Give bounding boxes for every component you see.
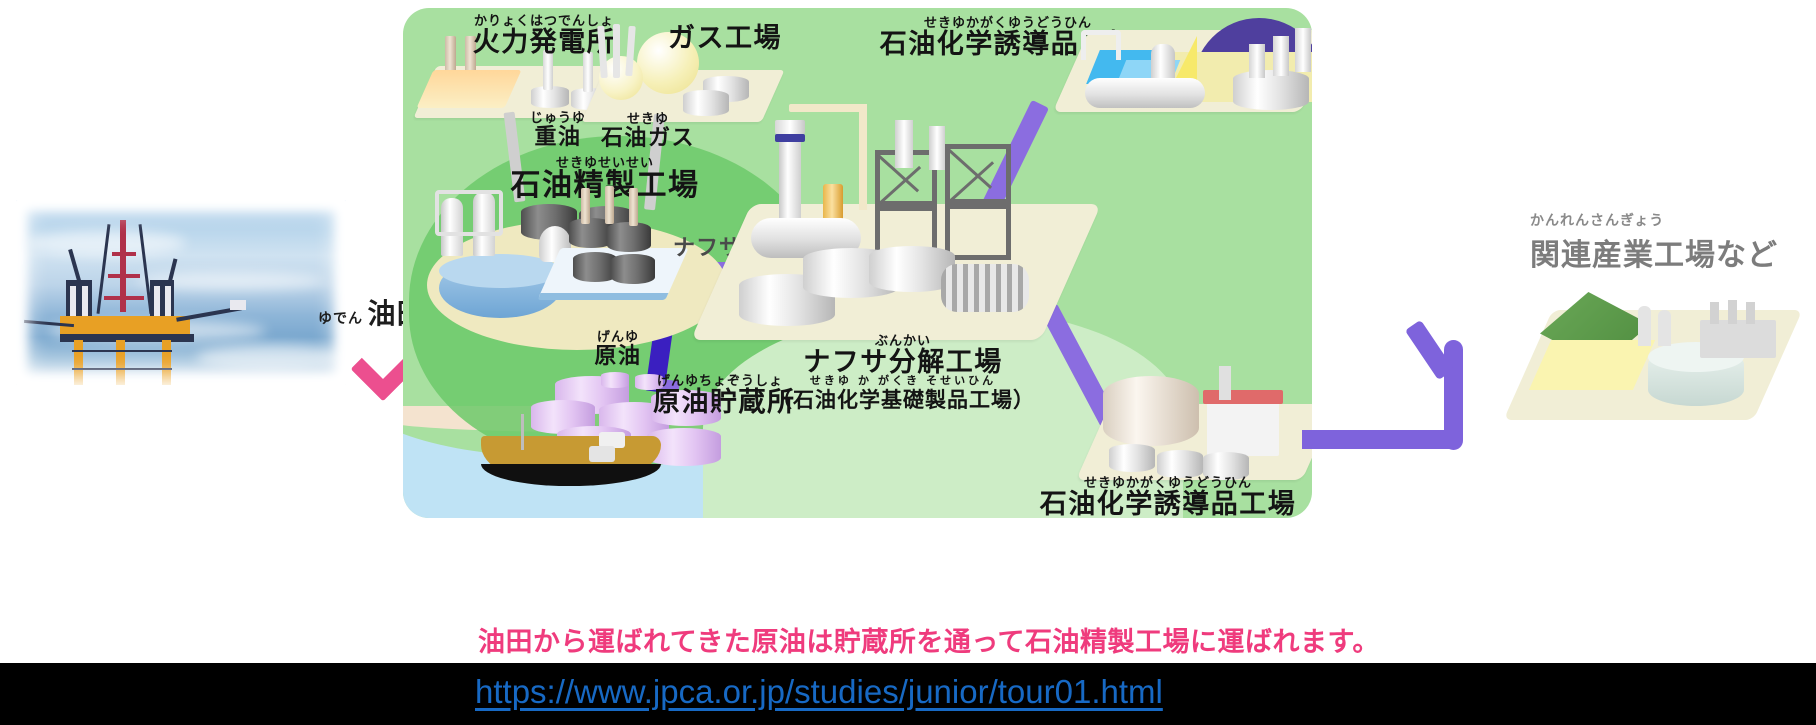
refinery-unit (607, 222, 651, 252)
naphtha-cracker-sub-text: （石油化学基礎製品工場） (743, 390, 1063, 412)
related-stack-pipes (1638, 306, 1651, 346)
related-small-factory (1700, 320, 1776, 358)
cracker-vertical-pipe (929, 126, 945, 170)
petrochem-frame (1081, 30, 1121, 60)
related-yellow-floor (1529, 340, 1655, 390)
petrochem-bottom-chimney (1219, 366, 1231, 400)
related-industries-ruby: かんれんさんぎょう (1530, 210, 1778, 230)
related-factory-chimney (1746, 302, 1755, 324)
gas-plant-label: ガス工場 (635, 24, 815, 52)
naphtha-cracker-sub-ruby: せきゆ か がくき そせいひん (743, 376, 1063, 388)
offshore-oil-rig-photo (16, 200, 346, 385)
source-url-link[interactable]: https://www.jpca.or.jp/studies/junior/to… (475, 673, 1163, 711)
petroleum-gas-text: 石油ガス (583, 126, 713, 149)
petrochem-bottom-tank (1103, 376, 1199, 446)
petrochemical-bottom-text: 石油化学誘導品工場 (1003, 490, 1312, 518)
process-diagram-panel: かりょくはつでんしょ 火力発電所 じゅうゆ 重油 ガス工場 せきゆ 石油ガス せ… (403, 8, 1312, 518)
cracker-coil-drum (941, 264, 1029, 312)
petrochem-valve (1249, 44, 1265, 78)
naphtha-cracker-text: ナフサ分解工場 (743, 348, 1063, 376)
cracker-lattice-frame (945, 204, 1011, 260)
petrochem-bottom-roof (1203, 390, 1283, 404)
petroleum-gas-ruby: せきゆ (583, 112, 713, 126)
cracker-overhead-pipe (789, 104, 867, 112)
cracker-vertical-pipe (895, 120, 913, 168)
crude-oil-label: げんゆ 原油 (563, 330, 673, 367)
refinery-chimney (605, 186, 614, 224)
refinery-chimney (629, 188, 638, 226)
cracker-stack-band (775, 134, 805, 142)
oil-refinery-ruby: せきゆせいせい (465, 156, 745, 170)
power-plant-building (417, 70, 522, 108)
petrochem-tank (1233, 70, 1309, 110)
ship-mast (521, 414, 524, 450)
petrochem-bottom-drum (1157, 450, 1203, 478)
petrochem-valve (1295, 28, 1311, 72)
storage-tank-small (601, 372, 629, 388)
pipeline-to-related-industries-riser (1444, 340, 1463, 450)
petrochemical-top-ruby: せきゆかがくゆうどうひん (843, 16, 1173, 30)
naphtha-cracker-label: ぶんかい ナフサ分解工場 せきゆ か がくき そせいひん （石油化学基礎製品工場… (743, 334, 1063, 412)
gas-plant-pipe (613, 24, 620, 78)
cracker-overhead-pipe (859, 104, 867, 210)
oilfield-ruby: ゆでん (318, 310, 363, 326)
petrochem-horizontal-drum (1085, 78, 1205, 108)
petrochemical-bottom-label: せきゆかがくゆうどうひん 石油化学誘導品工場 (1003, 476, 1312, 518)
ship-deckhouse (589, 446, 615, 462)
refinery-frame (435, 190, 503, 236)
refinery-unit (611, 254, 655, 284)
source-url-bar: https://www.jpca.or.jp/studies/junior/to… (0, 663, 1816, 725)
petrochem-bottom-building (1207, 400, 1279, 456)
petrochemical-bottom-ruby: せきゆかがくゆうどうひん (1003, 476, 1312, 490)
crude-oil-ruby: げんゆ (563, 330, 673, 344)
petrochem-bottom-drum (1109, 444, 1155, 472)
related-industries-label: かんれんさんぎょう 関連産業工場など (1530, 210, 1778, 274)
slide-canvas: ゆでん 油田 かりょくはつでんしょ 火力発電所 (0, 0, 1816, 725)
pipeline-to-related-industries (1302, 430, 1462, 449)
refinery-chimney (581, 188, 590, 224)
gas-plant-text: ガス工場 (635, 24, 815, 52)
cracker-stack-collar (775, 120, 805, 134)
petrochem-valve (1273, 36, 1289, 76)
power-plant-tower (583, 52, 593, 92)
related-factory-chimney (1728, 300, 1737, 324)
naphtha-cracker-ruby: ぶんかい (743, 334, 1063, 348)
petroleum-gas-label: せきゆ 石油ガス (583, 112, 713, 149)
oil-rig-photo-frame (16, 200, 346, 385)
caption-text: 油田から運ばれてきた原油は貯蔵所を通って石油精製工場に運ばれます。 (478, 620, 1380, 659)
related-stack-pipes (1658, 310, 1671, 346)
crude-oil-text: 原油 (563, 344, 673, 367)
related-industries-text: 関連産業工場など (1530, 230, 1778, 274)
related-factory-chimney (1710, 302, 1719, 324)
